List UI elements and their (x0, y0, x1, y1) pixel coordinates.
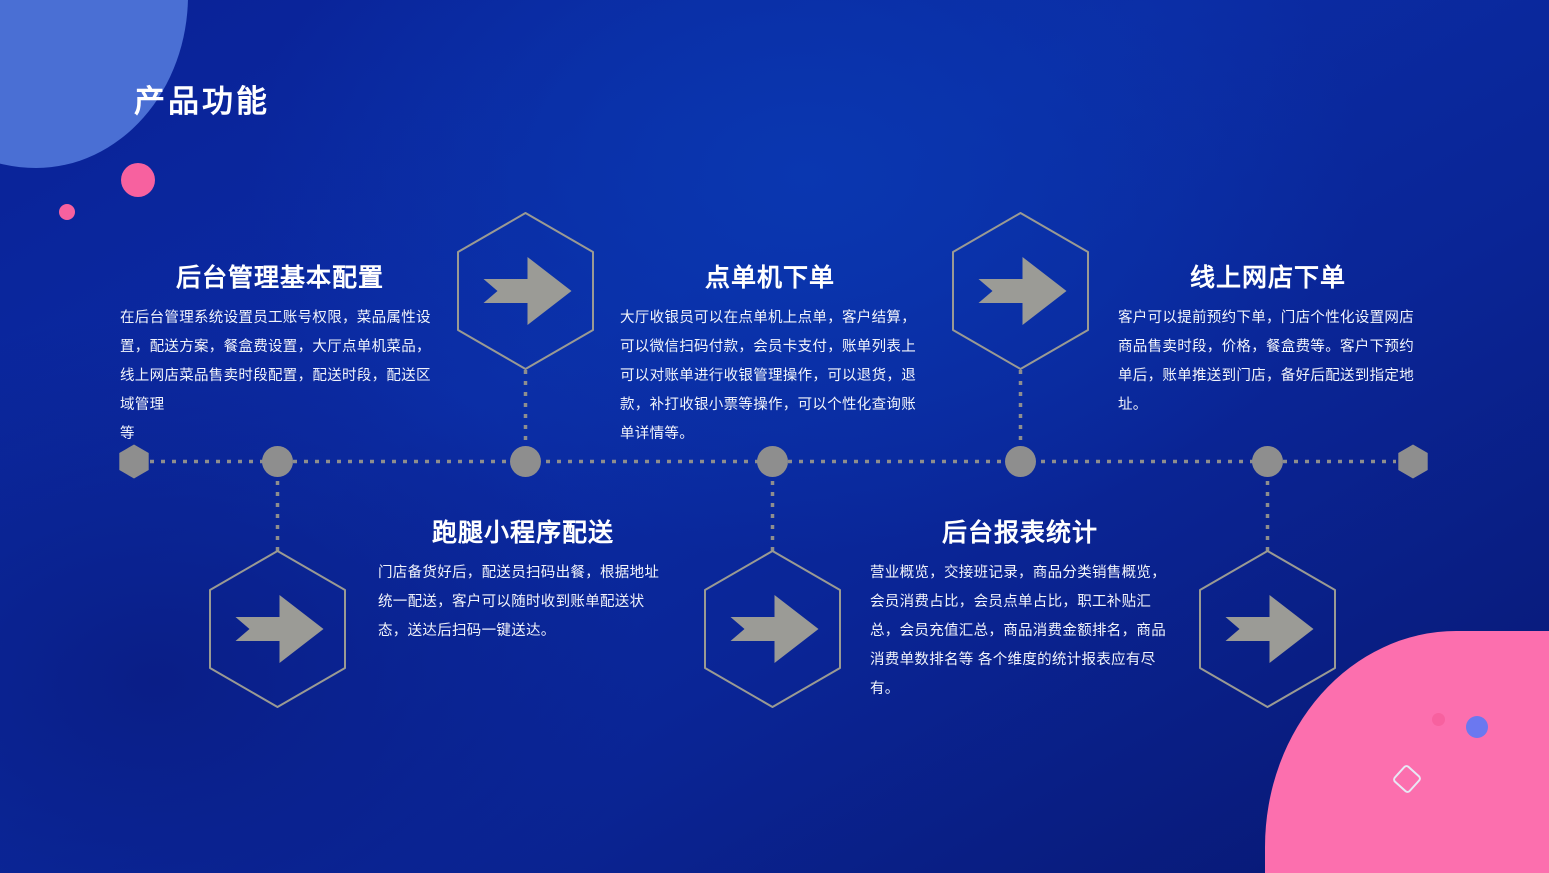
arrow-right-icon (236, 595, 324, 663)
feature-heading: 线上网店下单 (1118, 258, 1418, 294)
feature-body: 客户可以提前预约下单，门店个性化设置网店商品售卖时段，价格，餐盒费等。客户下预约… (1118, 304, 1418, 420)
hexagon-icon-report-stats (1200, 551, 1335, 707)
timeline-endcap-left (119, 445, 148, 479)
arrow-right-icon (979, 257, 1067, 325)
feature-block-delivery-miniapp: 跑腿小程序配送 门店备货好后，配送员扫码出餐，根据地址统一配送，客户可以随时收到… (378, 513, 668, 646)
timeline-node-4 (1005, 446, 1036, 477)
hexagon-icon-online-store (953, 213, 1088, 369)
feature-block-report-stats: 后台报表统计 营业概览，交接班记录，商品分类销售概览，会员消费占比，会员点单占比… (870, 513, 1170, 704)
feature-heading: 后台管理基本配置 (120, 258, 440, 294)
arrow-right-icon (484, 257, 572, 325)
feature-block-point-of-sale: 点单机下单 大厅收银员可以在点单机上点单，客户结算，可以微信扫码付款，会员卡支付… (620, 258, 920, 449)
arrow-right-icon (731, 595, 819, 663)
feature-heading: 点单机下单 (620, 258, 920, 294)
hexagon-icon-point-of-sale (458, 213, 593, 369)
feature-body: 在后台管理系统设置员工账号权限，菜品属性设置，配送方案，餐盒费设置，大厅点单机菜… (120, 304, 440, 449)
arrow-right-icon (1226, 595, 1314, 663)
feature-body: 大厅收银员可以在点单机上点单，客户结算，可以微信扫码付款，会员卡支付，账单列表上… (620, 304, 920, 449)
feature-body: 营业概览，交接班记录，商品分类销售概览，会员消费占比，会员点单占比，职工补贴汇总… (870, 559, 1170, 704)
feature-body: 门店备货好后，配送员扫码出餐，根据地址统一配送，客户可以随时收到账单配送状态，送… (378, 559, 668, 646)
timeline-node-2 (510, 446, 541, 477)
timeline-endcap-right (1398, 445, 1427, 479)
hexagon-icon-backend-config (210, 551, 345, 707)
feature-heading: 后台报表统计 (870, 513, 1170, 549)
feature-block-backend-config: 后台管理基本配置 在后台管理系统设置员工账号权限，菜品属性设置，配送方案，餐盒费… (120, 258, 440, 449)
timeline-node-1 (262, 446, 293, 477)
feature-heading: 跑腿小程序配送 (378, 513, 668, 549)
timeline-node-3 (757, 446, 788, 477)
timeline-node-5 (1252, 446, 1283, 477)
hexagon-icon-delivery-miniapp (705, 551, 840, 707)
feature-block-online-store: 线上网店下单 客户可以提前预约下单，门店个性化设置网店商品售卖时段，价格，餐盒费… (1118, 258, 1418, 420)
